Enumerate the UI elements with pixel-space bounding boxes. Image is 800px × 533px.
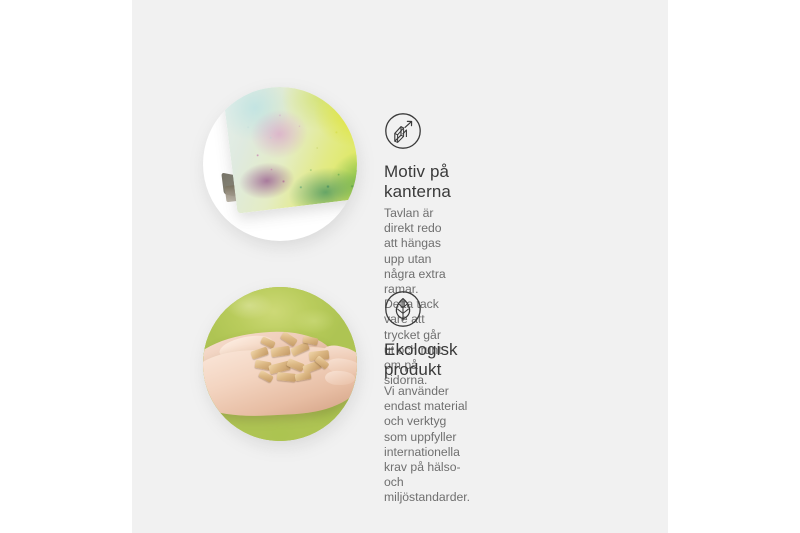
canvas-wrapped-edge-icon bbox=[384, 112, 422, 150]
feature-title: Ekologisk produkt bbox=[384, 340, 470, 380]
hands-with-wood-chips-photo bbox=[203, 287, 357, 441]
feature-description: Vi använder endast material och verktyg … bbox=[384, 384, 470, 506]
paint-speckle-texture bbox=[222, 87, 357, 214]
leaf-icon bbox=[384, 290, 422, 328]
photo-content bbox=[203, 287, 357, 441]
feature-text-2: Ekologisk produkt Vi använder endast mat… bbox=[384, 290, 470, 506]
product-feature-banner: Motiv på kanterna Tavlan är direkt redo … bbox=[0, 0, 800, 533]
canvas-artwork bbox=[203, 87, 357, 241]
canvas-corner-photo bbox=[203, 87, 357, 241]
wood-chip-pile bbox=[247, 333, 333, 383]
canvas-front-face bbox=[222, 87, 357, 214]
feature-title: Motiv på kanterna bbox=[384, 162, 451, 202]
